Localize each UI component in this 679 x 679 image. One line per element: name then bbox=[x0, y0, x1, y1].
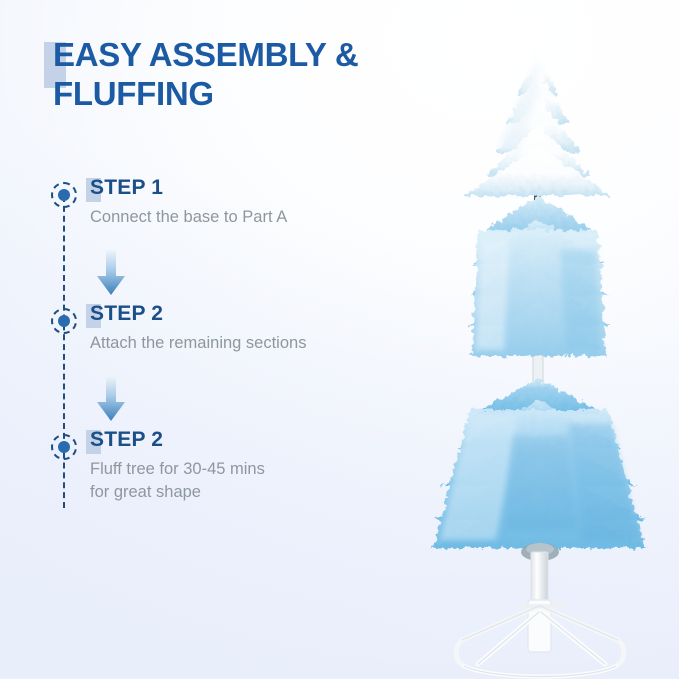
step-title-2: STEP 2 bbox=[90, 302, 163, 326]
step-title-wrap-3: STEP 2 bbox=[90, 428, 163, 452]
tree-section-top bbox=[464, 18, 612, 196]
infographic-canvas: EASY ASSEMBLY & FLUFFING STEP 1 Connect … bbox=[0, 0, 679, 679]
page-title: EASY ASSEMBLY & FLUFFING bbox=[44, 36, 444, 114]
page-title-text: EASY ASSEMBLY & FLUFFING bbox=[44, 36, 444, 114]
step-title-wrap-1: STEP 1 bbox=[90, 176, 163, 200]
tree-stand bbox=[456, 600, 624, 677]
step-title-wrap-2: STEP 2 bbox=[90, 302, 163, 326]
step-marker-icon-2 bbox=[51, 308, 77, 334]
step-description-1: Connect the base to Part A bbox=[90, 206, 404, 229]
step-item-1: STEP 1 Connect the base to Part A bbox=[44, 176, 404, 246]
arrow-down-icon-1 bbox=[96, 250, 126, 296]
arrow-down-icon-2 bbox=[96, 376, 126, 422]
step-description-3: Fluff tree for 30-45 mins for great shap… bbox=[90, 458, 404, 504]
step-title-3: STEP 2 bbox=[90, 428, 163, 452]
step-title-1: STEP 1 bbox=[90, 176, 163, 200]
step-marker-icon-3 bbox=[51, 434, 77, 460]
steps-timeline: STEP 1 Connect the base to Part A bbox=[44, 176, 404, 504]
step-item-2: STEP 2 Attach the remaining sections bbox=[44, 302, 404, 372]
step-marker-icon-1 bbox=[51, 182, 77, 208]
step-description-2: Attach the remaining sections bbox=[90, 332, 404, 355]
step-item-3: STEP 2 Fluff tree for 30-45 mins for gre… bbox=[44, 428, 404, 504]
